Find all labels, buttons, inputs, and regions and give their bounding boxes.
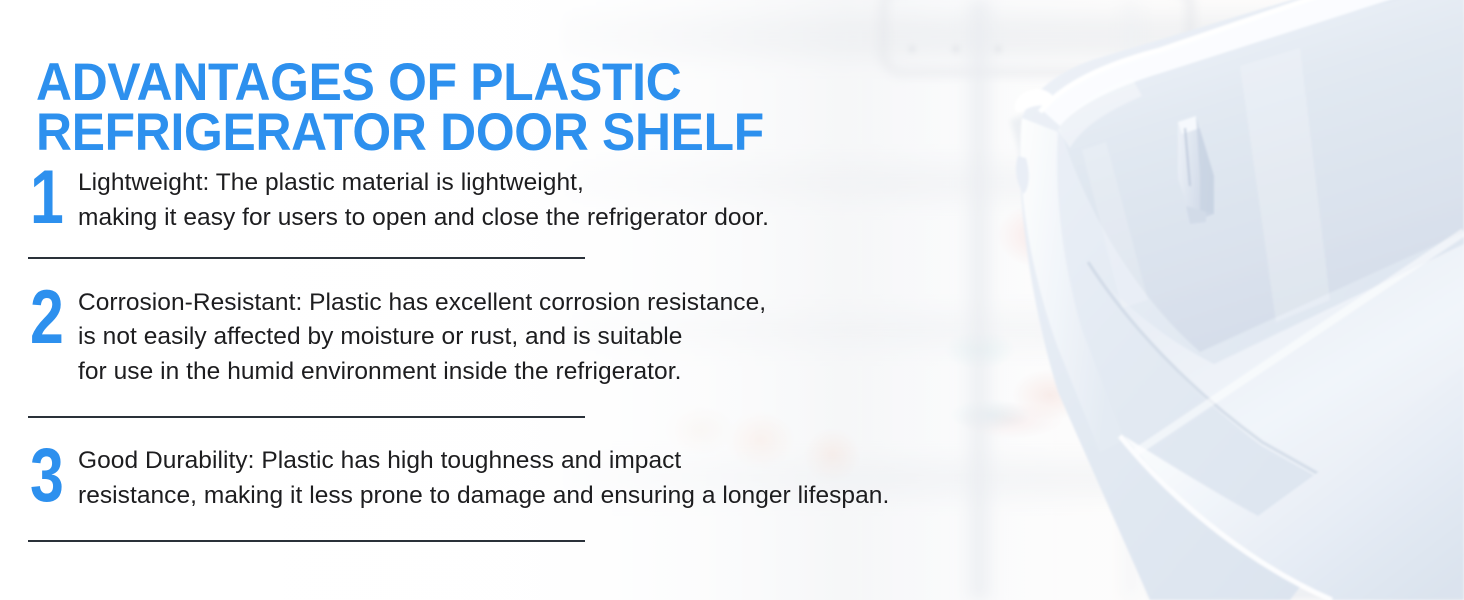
advantage-number-3: 3 [30, 444, 75, 505]
advantage-text-3: Good Durability: Plastic has high toughn… [78, 444, 1300, 514]
spacer [0, 390, 1300, 416]
spacer [0, 259, 1300, 286]
infographic-page: Advantages of Plastic Refrigerator Door … [0, 0, 1464, 600]
infographic-content: Advantages of Plastic Refrigerator Door … [0, 0, 1464, 600]
divider-3 [28, 540, 585, 542]
advantage-text-2: Corrosion-Resistant: Plastic has excelle… [78, 286, 1300, 390]
advantage-text-1: Lightweight: The plastic material is lig… [78, 166, 1300, 236]
advantages-list: 1 Lightweight: The plastic material is l… [0, 166, 1300, 542]
spacer [0, 236, 1300, 257]
page-title: Advantages of Plastic Refrigerator Door … [36, 58, 938, 160]
advantage-item-2: 2 Corrosion-Resistant: Plastic has excel… [0, 286, 1300, 390]
advantage-item-1: 1 Lightweight: The plastic material is l… [0, 166, 1300, 236]
advantage-number-2: 2 [30, 286, 75, 347]
spacer [0, 418, 1300, 444]
spacer [0, 513, 1300, 540]
advantage-number-1: 1 [30, 166, 75, 227]
advantage-item-3: 3 Good Durability: Plastic has high toug… [0, 444, 1300, 514]
